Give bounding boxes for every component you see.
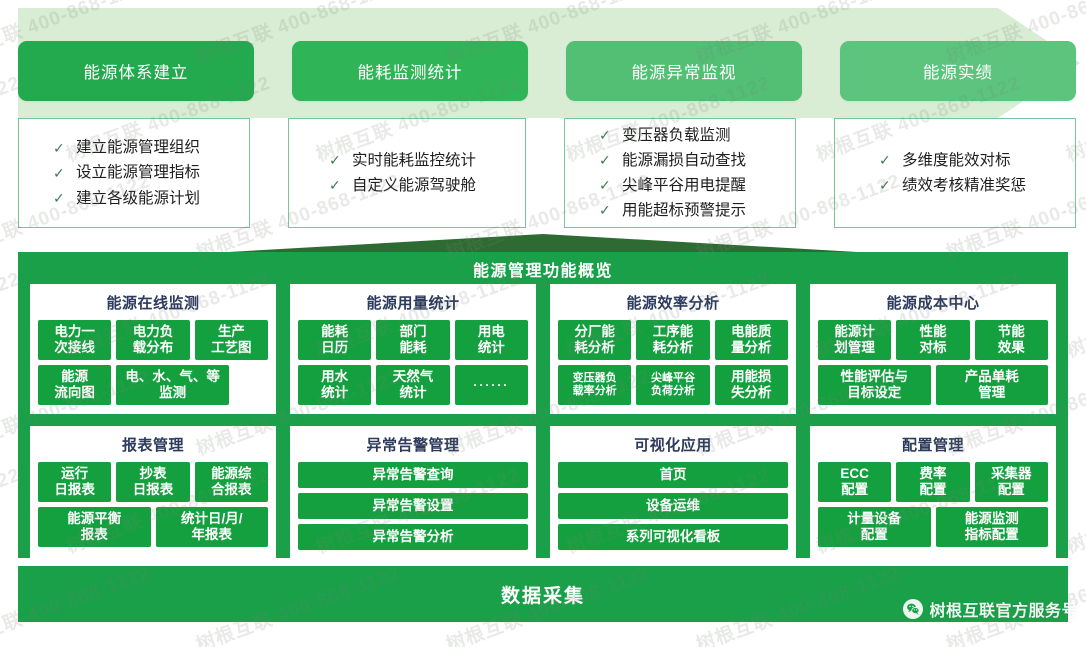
function-cell[interactable]: 用能损失分析: [715, 365, 788, 405]
card-title: 能源效率分析: [558, 292, 788, 313]
check-icon: ✓: [599, 199, 609, 222]
function-cell-line: 计量设备: [847, 511, 901, 527]
stage-row: 能源体系建立 能耗监测统计 能源异常监视 能源实绩: [18, 41, 1076, 101]
function-cell[interactable]: 能耗日历: [298, 320, 371, 360]
function-card: 报表管理运行日报表抄表日报表能源综合报表能源平衡报表统计日/月/年报表: [30, 426, 276, 559]
function-cell-line: 电、水、气、等: [125, 369, 220, 385]
function-cell-line: 工序能: [653, 324, 694, 340]
function-cell-line: 对标: [919, 340, 946, 356]
function-cell-line: 日报表: [54, 482, 95, 498]
card-cell-list: 分厂能耗分析工序能耗分析电能质量分析变压器负载率分析尖峰平谷负荷分析用能损失分析: [558, 320, 788, 405]
card-cell-list: 电力一次接线电力负载分布生产工艺图能源流向图电、水、气、等监测: [38, 320, 268, 405]
stage-box-4[interactable]: 能源实绩: [840, 41, 1076, 101]
function-cell-line: 异常告警设置: [373, 498, 454, 514]
function-cell-line: 能源综: [211, 466, 252, 482]
function-cell-line: 统计日/月/: [181, 511, 243, 527]
function-card: 能源用量统计能耗日历部门能耗用电统计用水统计天然气统计······: [290, 284, 536, 414]
check-icon: ✓: [329, 149, 339, 172]
bullet-box-4: ✓多维度能效对标✓绩效考核精准奖惩: [834, 118, 1076, 228]
bullet-item: ✓建立各级能源计划: [53, 186, 249, 211]
function-cell[interactable]: 电力一次接线: [38, 320, 111, 360]
function-cell-line: 电力负: [133, 324, 174, 340]
function-card: 能源效率分析分厂能耗分析工序能耗分析电能质量分析变压器负载率分析尖峰平谷负荷分析…: [550, 284, 796, 414]
bullet-label: 设立能源管理指标: [76, 160, 200, 185]
bullet-label: 用能超标预警提示: [622, 198, 746, 223]
function-cell-line: 配置: [841, 482, 868, 498]
function-cell-line: 日历: [321, 340, 348, 356]
function-cell-line: 性能: [919, 324, 946, 340]
function-cell-line: ······: [473, 378, 509, 392]
function-cell-line: 异常告警分析: [373, 529, 454, 545]
function-cell[interactable]: 计量设备配置: [818, 507, 931, 547]
function-cell[interactable]: 性能对标: [896, 320, 969, 360]
card-cell-list: 首页设备运维系列可视化看板: [558, 462, 788, 550]
function-cell-line: 统计: [478, 340, 505, 356]
function-cell[interactable]: 电、水、气、等监测: [116, 365, 229, 405]
function-cell[interactable]: 电力负载分布: [116, 320, 189, 360]
function-cell[interactable]: 异常告警设置: [298, 493, 528, 519]
bullet-label: 建立各级能源计划: [76, 186, 200, 211]
function-cell[interactable]: 工序能耗分析: [636, 320, 709, 360]
function-cell[interactable]: 设备运维: [558, 493, 788, 519]
function-cell[interactable]: 能源平衡报表: [38, 507, 151, 547]
function-cell[interactable]: 分厂能耗分析: [558, 320, 631, 360]
function-cell[interactable]: 用水统计: [298, 365, 371, 405]
wechat-icon: [903, 599, 923, 619]
function-cell-line: 耗分析: [574, 340, 615, 356]
bullet-item: ✓尖峰平谷用电提醒: [599, 173, 795, 198]
function-cell-line: 量分析: [731, 340, 772, 356]
function-cell-line: 首页: [660, 467, 687, 483]
function-cell-line: 统计: [399, 385, 426, 401]
function-cell[interactable]: 系列可视化看板: [558, 524, 788, 550]
function-cell-line: 生产: [218, 324, 245, 340]
function-cell-line: 载分布: [133, 340, 174, 356]
function-cell[interactable]: 首页: [558, 462, 788, 488]
function-cell-line: 划管理: [834, 340, 875, 356]
function-cell-line: 能源监测: [965, 511, 1019, 527]
card-title: 配置管理: [818, 434, 1048, 455]
card-title: 能源成本中心: [818, 292, 1048, 313]
function-cell[interactable]: ECC配置: [818, 462, 891, 502]
bullet-box-1: ✓建立能源管理组织✓设立能源管理指标✓建立各级能源计划: [18, 118, 250, 228]
function-cell-line: 采集器: [991, 466, 1032, 482]
bullet-item: ✓绩效考核精准奖惩: [879, 173, 1075, 198]
stage-label-3: 能源异常监视: [632, 59, 737, 83]
function-cell-line: 日报表: [133, 482, 174, 498]
wechat-service-badge[interactable]: 树根互联官方服务号: [903, 597, 1078, 621]
function-cell[interactable]: 变压器负载率分析: [558, 365, 631, 405]
bullet-label: 自定义能源驾驶舱: [352, 173, 476, 198]
function-cell-line: 流向图: [54, 385, 95, 401]
check-icon: ✓: [879, 149, 889, 172]
bullet-label: 变压器负载监测: [622, 123, 731, 148]
function-cell-line: 指标配置: [965, 527, 1019, 543]
data-collection-label: 数据采集: [501, 581, 585, 608]
bullet-label: 多维度能效对标: [902, 148, 1011, 173]
card-title: 能源用量统计: [298, 292, 528, 313]
function-cell-line: 变压器负: [573, 372, 617, 385]
function-cell-line: 配置: [919, 482, 946, 498]
check-icon: ✓: [599, 124, 609, 147]
card-title: 报表管理: [38, 434, 268, 455]
bullet-item: ✓多维度能效对标: [879, 148, 1075, 173]
function-cell[interactable]: 运行日报表: [38, 462, 111, 502]
function-cell-line: 次接线: [54, 340, 95, 356]
stage-box-1[interactable]: 能源体系建立: [18, 41, 254, 101]
function-cell-line: 分厂能: [574, 324, 615, 340]
card-cell-list: 异常告警查询异常告警设置异常告警分析: [298, 462, 528, 550]
function-cell-line: ECC: [840, 466, 869, 482]
bullet-item: ✓自定义能源驾驶舱: [329, 173, 525, 198]
bullet-item: ✓建立能源管理组织: [53, 135, 249, 160]
function-cell[interactable]: 产品单耗管理: [936, 365, 1049, 405]
function-cell-line: 用水: [321, 369, 348, 385]
function-cell[interactable]: 抄表日报表: [116, 462, 189, 502]
function-cell-line: 抄表: [139, 466, 166, 482]
function-card: 可视化应用首页设备运维系列可视化看板: [550, 426, 796, 559]
function-cell[interactable]: 尖峰平谷负荷分析: [636, 365, 709, 405]
function-cell-line: 电力一: [54, 324, 95, 340]
function-card: 异常告警管理异常告警查询异常告警设置异常告警分析: [290, 426, 536, 559]
function-cell-line: 电能质: [731, 324, 772, 340]
function-overview-panel: 能源管理功能概览 能源在线监测电力一次接线电力负载分布生产工艺图能源流向图电、水…: [18, 252, 1068, 558]
check-icon: ✓: [599, 174, 609, 197]
card-cell-list: 运行日报表抄表日报表能源综合报表能源平衡报表统计日/月/年报表: [38, 462, 268, 547]
stage-label-2: 能耗监测统计: [358, 59, 463, 83]
function-cell-line: 年报表: [192, 527, 233, 543]
function-card: 能源成本中心能源计划管理性能对标节能效果性能评估与目标设定产品单耗管理: [810, 284, 1056, 414]
card-title: 可视化应用: [558, 434, 788, 455]
function-cell-line: 能源计: [834, 324, 875, 340]
bullet-label: 绩效考核精准奖惩: [902, 173, 1026, 198]
function-cell-line: 尖峰平谷: [651, 372, 695, 385]
function-cell-line: 节能: [998, 324, 1025, 340]
function-cell-line: 载率分析: [573, 385, 617, 398]
function-cell-line: 用能损: [731, 369, 772, 385]
function-cell-line: 合报表: [211, 482, 252, 498]
stage-box-2[interactable]: 能耗监测统计: [292, 41, 528, 101]
function-cell-line: 管理: [978, 385, 1005, 401]
bullet-item: ✓用能超标预警提示: [599, 198, 795, 223]
function-cell[interactable]: 统计日/月/年报表: [156, 507, 269, 547]
bullet-item: ✓设立能源管理指标: [53, 160, 249, 185]
bullet-item: ✓变压器负载监测: [599, 123, 795, 148]
card-title: 异常告警管理: [298, 434, 528, 455]
bullet-label: 尖峰平谷用电提醒: [622, 173, 746, 198]
function-cell-line: 费率: [919, 466, 946, 482]
bullet-box-3: ✓变压器负载监测✓能源漏损自动查找✓尖峰平谷用电提醒✓用能超标预警提示: [564, 118, 796, 228]
function-cell-line: 运行: [61, 466, 88, 482]
function-cell[interactable]: 电能质量分析: [715, 320, 788, 360]
function-cell[interactable]: 天然气统计: [376, 365, 449, 405]
function-cell-line: 耗分析: [653, 340, 694, 356]
function-cell[interactable]: 能源流向图: [38, 365, 111, 405]
function-cell[interactable]: 采集器配置: [975, 462, 1048, 502]
function-cell-line: 失分析: [731, 385, 772, 401]
function-cell-line: 负荷分析: [651, 385, 695, 398]
function-cell-line: 部门: [399, 324, 426, 340]
function-cell-line: 天然气: [393, 369, 434, 385]
diagram-canvas: 能源体系建立 能耗监测统计 能源异常监视 能源实绩 ✓建立能源管理组织✓设立能源…: [0, 0, 1086, 647]
function-cell-line: 配置: [998, 482, 1025, 498]
stage-label-1: 能源体系建立: [84, 59, 189, 83]
stage-label-4: 能源实绩: [923, 59, 993, 83]
function-cell[interactable]: ······: [455, 365, 528, 405]
function-cell-line: 统计: [321, 385, 348, 401]
panel-title: 能源管理功能概览: [18, 254, 1068, 284]
check-icon: ✓: [53, 162, 63, 185]
function-cell[interactable]: 性能评估与目标设定: [818, 365, 931, 405]
wechat-badge-text: 树根互联官方服务号: [929, 597, 1078, 621]
function-cell-line: 能源平衡: [67, 511, 121, 527]
function-cell-line: 目标设定: [847, 385, 901, 401]
function-cell-line: 报表: [81, 527, 108, 543]
function-cell[interactable]: 用电统计: [455, 320, 528, 360]
function-cell-line: 工艺图: [211, 340, 252, 356]
function-cell-line: 性能评估与: [841, 369, 909, 385]
function-cell-line: 效果: [998, 340, 1025, 356]
bullet-label: 建立能源管理组织: [76, 135, 200, 160]
function-cell[interactable]: 节能效果: [975, 320, 1048, 360]
check-icon: ✓: [53, 137, 63, 160]
function-card: 配置管理ECC配置费率配置采集器配置计量设备配置能源监测指标配置: [810, 426, 1056, 559]
function-cell-line: 系列可视化看板: [626, 529, 721, 545]
bullet-row: ✓建立能源管理组织✓设立能源管理指标✓建立各级能源计划 ✓实时能耗监控统计✓自定…: [18, 118, 1076, 228]
card-cell-list: ECC配置费率配置采集器配置计量设备配置能源监测指标配置: [818, 462, 1048, 547]
check-icon: ✓: [599, 149, 609, 172]
function-cell-line: 异常告警查询: [373, 467, 454, 483]
bullet-item: ✓能源漏损自动查找: [599, 148, 795, 173]
function-cell[interactable]: 异常告警分析: [298, 524, 528, 550]
bullet-label: 能源漏损自动查找: [622, 148, 746, 173]
bullet-box-2: ✓实时能耗监控统计✓自定义能源驾驶舱: [288, 118, 526, 228]
check-icon: ✓: [53, 187, 63, 210]
card-grid: 能源在线监测电力一次接线电力负载分布生产工艺图能源流向图电、水、气、等监测能源用…: [18, 284, 1068, 569]
check-icon: ✓: [329, 174, 339, 197]
function-cell[interactable]: 能源计划管理: [818, 320, 891, 360]
function-cell-line: 配置: [861, 527, 888, 543]
function-cell[interactable]: 费率配置: [896, 462, 969, 502]
function-cell-line: 设备运维: [646, 498, 700, 514]
function-card: 能源在线监测电力一次接线电力负载分布生产工艺图能源流向图电、水、气、等监测: [30, 284, 276, 414]
card-title: 能源在线监测: [38, 292, 268, 313]
function-cell-line: 能耗: [399, 340, 426, 356]
card-cell-list: 能源计划管理性能对标节能效果性能评估与目标设定产品单耗管理: [818, 320, 1048, 405]
function-cell[interactable]: 部门能耗: [376, 320, 449, 360]
function-cell[interactable]: 异常告警查询: [298, 462, 528, 488]
function-cell-line: 监测: [159, 385, 186, 401]
function-cell-line: 能耗: [321, 324, 348, 340]
function-cell[interactable]: 生产工艺图: [195, 320, 268, 360]
function-cell-line: 用电: [478, 324, 505, 340]
stage-box-3[interactable]: 能源异常监视: [566, 41, 802, 101]
function-cell[interactable]: 能源监测指标配置: [936, 507, 1049, 547]
bullet-item: ✓实时能耗监控统计: [329, 148, 525, 173]
check-icon: ✓: [879, 174, 889, 197]
function-cell-line: 产品单耗: [965, 369, 1019, 385]
function-cell-line: 能源: [61, 369, 88, 385]
card-cell-list: 能耗日历部门能耗用电统计用水统计天然气统计······: [298, 320, 528, 405]
bullet-label: 实时能耗监控统计: [352, 148, 476, 173]
function-cell[interactable]: 能源综合报表: [195, 462, 268, 502]
